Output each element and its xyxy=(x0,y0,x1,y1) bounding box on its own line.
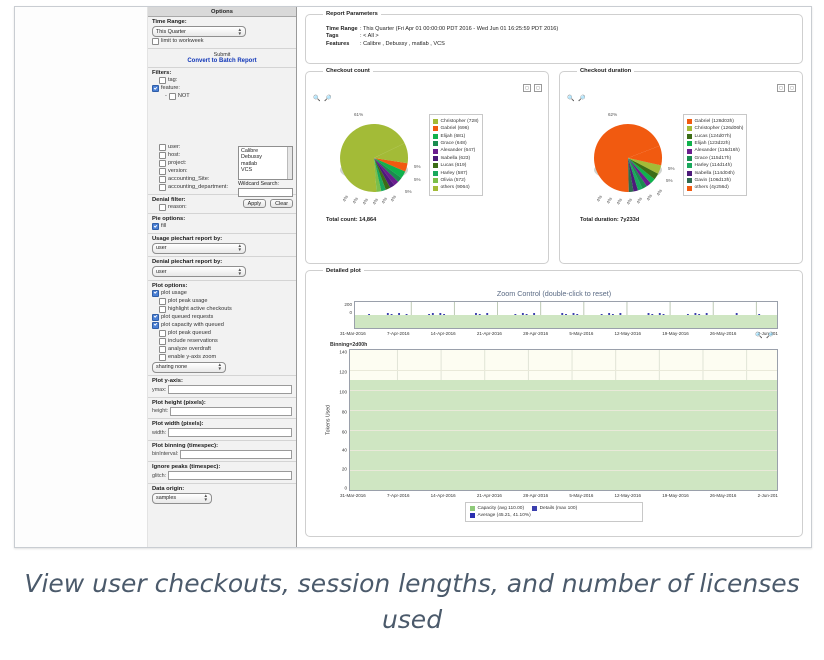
legend-label: Gabriel (128d03h) xyxy=(695,118,734,125)
zoom-out-icon[interactable]: ◻ xyxy=(788,84,796,92)
limit-workweek-label: limit to workweek xyxy=(161,38,204,45)
legend-item: Gabriel (128d03h) xyxy=(687,118,743,125)
param-row-tags: Tags: < All > xyxy=(326,33,784,41)
data-origin-label: Data origin: xyxy=(152,486,292,492)
plot-peak-queued-label: plot peak queued xyxy=(168,330,211,337)
plot-width-label: Plot width (pixels): xyxy=(152,421,292,427)
plot-height-label: Plot height (pixels): xyxy=(152,400,292,406)
total-duration-label: Total duration: 7y233d xyxy=(572,213,790,228)
param-value-tags: : < All > xyxy=(360,33,379,39)
chevron-updown-icon: ▲▼ xyxy=(203,494,208,502)
checkout-count-magnifiers: 🔍 🔎 xyxy=(313,96,332,102)
zc-ytick-0: 0 xyxy=(338,309,352,317)
report-content: Report Parameters Time Range: This Quart… xyxy=(297,7,811,547)
legend-label: Isabella (623) xyxy=(441,155,471,162)
pie-label-62: 62% xyxy=(608,112,617,117)
zoom-control-xticks: 31-Mar-2016 7-Apr-2016 14-Apr-2016 21-Ap… xyxy=(340,331,784,336)
pie-options-label: Pie options: xyxy=(152,216,292,222)
zoom-control-title: Zoom Control (double-click to reset) xyxy=(324,289,784,298)
denial-piechart-select[interactable]: user ▲▼ xyxy=(152,266,246,277)
legend-label: Gabriel (696) xyxy=(441,125,470,132)
feature-list-panel: Calibre Debussy matlab VCS Wildcard Sear… xyxy=(238,146,293,208)
detailed-plot-body: Zoom Control (double-click to reset) 200… xyxy=(318,279,790,526)
legend-swatch xyxy=(687,178,692,183)
ignore-peaks-label: Ignore peaks (timespec): xyxy=(152,464,292,470)
screenshot-root: Options Time Range: This Quarter ▲▼ limi… xyxy=(0,0,824,660)
plot-capacity-with-queued-checkbox[interactable] xyxy=(152,322,159,329)
apply-button[interactable]: Apply xyxy=(243,199,267,208)
sharing-value: sharing none xyxy=(156,364,187,370)
bininterval-name: binInterval: xyxy=(152,451,178,457)
legend-swatch xyxy=(687,134,692,139)
legend-swatch xyxy=(433,163,438,168)
gridline xyxy=(350,370,777,371)
convert-batch-report-link[interactable]: Convert to Batch Report xyxy=(152,58,292,64)
include-reservations-label: include reservations xyxy=(168,338,218,345)
zoom-in-icon[interactable]: ◻ xyxy=(777,84,785,92)
ymax-field-row[interactable]: ymax: xyxy=(152,385,292,394)
legend-item: Gavin (106d13h) xyxy=(687,177,743,184)
legend-label: Christopher (126d06h) xyxy=(695,125,744,132)
legend-item: Lucas (124d07h) xyxy=(687,133,743,140)
legend-swatch xyxy=(687,149,692,154)
time-range-section: Time Range: This Quarter ▲▼ limit to wor… xyxy=(148,17,296,49)
filter-project-label: project: xyxy=(168,160,186,167)
filter-version-label: version: xyxy=(168,168,188,175)
checkout-count-title: Checkout count xyxy=(323,68,373,74)
plot-queued-requests-label: plot queued requests xyxy=(161,314,213,321)
filter-version-checkbox[interactable] xyxy=(159,168,166,175)
pie-label-d5a: 5% xyxy=(668,166,675,171)
zc-xtick: 7-Apr-2016 xyxy=(387,331,410,336)
time-range-value: This Quarter xyxy=(156,29,186,35)
limit-workweek-row[interactable]: limit to workweek xyxy=(152,38,292,45)
filter-tag-row[interactable]: tag: xyxy=(159,77,292,84)
legend-item: Christopher (728) xyxy=(433,118,479,125)
legend-swatch xyxy=(433,186,438,191)
zoom-control-band xyxy=(355,315,777,328)
legend-label: Lucas (619) xyxy=(441,162,467,169)
zc-xtick: 19-May-2016 xyxy=(662,331,689,336)
zoom-out-icon[interactable]: ◻ xyxy=(534,84,542,92)
legend-swatch xyxy=(687,119,692,124)
plot-option-plot-peak-usage[interactable]: plot peak usage xyxy=(159,298,292,305)
total-count-label: Total count: 14,864 xyxy=(318,213,536,228)
filter-project-checkbox[interactable] xyxy=(159,160,166,167)
param-key-features: Features xyxy=(326,41,360,49)
zc-xtick: 12-May-2016 xyxy=(615,331,642,336)
plot-option-plot-usage[interactable]: plot usage xyxy=(152,290,292,297)
ytick-80: 80 xyxy=(342,410,347,415)
usage-piechart-value: user xyxy=(156,245,167,251)
legend-label: Isabella (114d04h) xyxy=(695,170,735,177)
plot-queued-requests-checkbox[interactable] xyxy=(152,314,159,321)
legend-swatch xyxy=(433,156,438,161)
magnifier-minus-icon[interactable]: 🔎 xyxy=(578,96,586,102)
main-plot-legend: Capacity (avg 110.00) Details (max 100) … xyxy=(465,502,643,522)
pie-label-5a: 5% xyxy=(414,164,421,169)
filter-feature-row[interactable]: feature: xyxy=(152,85,292,92)
glitch-name: glitch: xyxy=(152,473,166,479)
magnifier-plus-icon[interactable]: 🔍 xyxy=(313,96,321,102)
checkout-count-zoom-controls: ◻ ◻ xyxy=(523,84,542,92)
legend-item: Gabriel (696) xyxy=(433,125,479,132)
height-input[interactable] xyxy=(170,407,292,416)
binning-label: Binning=2d00h xyxy=(330,342,784,348)
plot-yaxis-section: Plot y-axis: ymax: xyxy=(148,376,296,398)
pie-label-5c: 5% xyxy=(405,189,412,194)
usage-piechart-label: Usage piechart report by: xyxy=(152,236,292,242)
time-range-label: Time Range: xyxy=(152,19,292,25)
height-name: height: xyxy=(152,408,168,414)
pie-label-d5b: 5% xyxy=(666,178,673,183)
legend-row: Average (45.21, 41.10%) xyxy=(470,512,638,519)
legend-swatch xyxy=(687,156,692,161)
plot-option-plot-peak-queued[interactable]: plot peak queued xyxy=(159,330,292,337)
legend-swatch xyxy=(687,186,692,191)
plot-option-include-reservations[interactable]: include reservations xyxy=(159,338,292,345)
legend-label: Christopher (728) xyxy=(441,118,479,125)
legend-item: Elijah (123d22h) xyxy=(687,140,743,147)
legend-item: Harley (587) xyxy=(433,170,479,177)
bininterval-input[interactable] xyxy=(180,450,292,459)
checkout-duration-panel: Checkout duration ◻ ◻ 🔍 🔎 xyxy=(559,68,803,264)
filter-not-checkbox[interactable] xyxy=(169,93,176,100)
analyze-overdraft-checkbox[interactable] xyxy=(159,346,166,353)
clear-button[interactable]: Clear xyxy=(270,199,293,208)
legend-item: others (4y256d) xyxy=(687,184,743,191)
data-origin-section: Data origin: samples ▲▼ xyxy=(148,484,296,507)
main-xtick: 26-May-2016 xyxy=(710,493,737,498)
legend-swatch xyxy=(433,149,438,154)
main-xtick: 2-Jun-201 xyxy=(758,493,778,498)
legend-item: Average (45.21, 41.10%) xyxy=(470,512,531,519)
denial-piechart-section: Denial piechart report by: user ▲▼ xyxy=(148,257,296,281)
main-xtick: 28-Apr-2016 xyxy=(523,493,548,498)
legend-label: Olivia (572) xyxy=(441,177,466,184)
legend-item: others (9064) xyxy=(433,184,479,191)
bininterval-field-row[interactable]: binInterval: xyxy=(152,450,292,459)
options-sidebar: Options Time Range: This Quarter ▲▼ limi… xyxy=(148,7,297,547)
usage-piechart-select[interactable]: user ▲▼ xyxy=(152,243,246,254)
zoom-control-wrap: 200 0 xyxy=(324,301,784,329)
legend-item: Capacity (avg 110.00) xyxy=(470,505,524,512)
glitch-input[interactable] xyxy=(168,471,292,480)
plot-options-label: Plot options: xyxy=(152,283,292,289)
legend-swatch xyxy=(433,134,438,139)
legend-label: Capacity (avg 110.00) xyxy=(478,505,525,512)
checkout-duration-legend: Gabriel (128d03h) Christopher (126d06h) … xyxy=(683,114,747,196)
pie-charts-row: Checkout count ◻ ◻ 🔍 🔎 xyxy=(303,68,805,268)
filter-accounting-department-checkbox[interactable] xyxy=(159,184,166,191)
filter-accounting-site-label: accounting_Site: xyxy=(168,176,209,183)
height-field-row[interactable]: height: xyxy=(152,407,292,416)
main-xtick: 21-Apr-2016 xyxy=(477,493,502,498)
gridline xyxy=(350,470,777,471)
submit-section: Submit Convert to Batch Report xyxy=(148,49,296,69)
glitch-field-row[interactable]: glitch: xyxy=(152,471,292,480)
legend-item: Details (max 100) xyxy=(532,505,577,512)
zoom-in-icon[interactable]: ◻ xyxy=(523,84,531,92)
pie-label-5b: 5% xyxy=(414,177,421,182)
filter-tag-checkbox[interactable] xyxy=(159,77,166,84)
ignore-peaks-section: Ignore peaks (timespec): glitch: xyxy=(148,462,296,484)
pie-fill-row[interactable]: fill xyxy=(152,223,292,230)
legend-swatch xyxy=(433,126,438,131)
legend-swatch xyxy=(433,141,438,146)
filter-user-label: user: xyxy=(168,144,180,151)
report-parameters-title: Report Parameters xyxy=(323,11,381,17)
legend-swatch xyxy=(470,513,475,518)
chevron-updown-icon: ▲▼ xyxy=(237,244,242,252)
app-window: Options Time Range: This Quarter ▲▼ limi… xyxy=(14,6,812,548)
plot-option-plot-capacity-with-queued[interactable]: plot capacity with queued xyxy=(152,322,292,329)
feature-listbox[interactable]: Calibre Debussy matlab VCS xyxy=(238,146,293,180)
zc-xtick: 21-Apr-2016 xyxy=(477,331,502,336)
limit-workweek-checkbox[interactable] xyxy=(152,38,159,45)
denial-piechart-label: Denial piechart report by: xyxy=(152,259,292,265)
param-key-time-range: Time Range xyxy=(326,26,360,34)
magnifier-plus-icon[interactable]: 🔍 xyxy=(567,96,575,102)
zc-xtick: 14-Apr-2016 xyxy=(431,331,456,336)
plot-peak-queued-checkbox[interactable] xyxy=(159,330,166,337)
denial-reason-label: reason: xyxy=(168,204,187,211)
gridline xyxy=(350,390,777,391)
legend-swatch xyxy=(687,141,692,146)
main-xtick: 14-Apr-2016 xyxy=(431,493,456,498)
plot-height-section: Plot height (pixels): height: xyxy=(148,398,296,420)
checkout-count-chart-area: 61% 5% 5% 5% 4% 4% 4% 4% 4% 4% xyxy=(318,80,536,213)
filter-user-checkbox[interactable] xyxy=(159,144,166,151)
param-row-features: Features: Calibre , Debussy , matlab , V… xyxy=(326,41,784,49)
enable-y-axis-zoom-label: enable y-axis zoom xyxy=(168,354,216,361)
legend-label: Elijah (123d22h) xyxy=(695,140,731,147)
plot-usage-label: plot usage xyxy=(161,290,187,297)
legend-swatch xyxy=(470,506,475,511)
legend-label: Lucas (124d07h) xyxy=(695,133,732,140)
usage-piechart-section: Usage piechart report by: user ▲▼ xyxy=(148,234,296,258)
gridline xyxy=(350,430,777,431)
filter-not-dash: - xyxy=(165,93,167,100)
zoom-control-plot[interactable] xyxy=(354,301,778,329)
legend-item: Isabella (114d04h) xyxy=(687,170,743,177)
checkout-count-pie: 61% 5% 5% 5% 4% 4% 4% 4% 4% 4% xyxy=(322,108,427,213)
legend-item: Lucas (619) xyxy=(433,162,479,169)
plot-option-enable-y-axis-zoom[interactable]: enable y-axis zoom xyxy=(159,354,292,361)
wildcard-search-label: Wildcard Search: xyxy=(238,181,293,187)
chevron-updown-icon: ▲▼ xyxy=(237,28,242,36)
data-origin-value: samples xyxy=(156,495,176,501)
legend-label: Harley (587) xyxy=(441,170,468,177)
legend-item: Olivia (572) xyxy=(433,177,479,184)
legend-swatch xyxy=(532,506,537,511)
main-plot-wrap: Tokens Used 140 120 100 80 60 40 20 0 xyxy=(324,349,784,491)
detailed-plot-title: Detailed plot xyxy=(323,268,364,274)
detailed-plot-panel: Detailed plot Zoom Control (double-click… xyxy=(305,268,803,538)
legend-label: Details (max 100) xyxy=(540,505,578,512)
ytick-60: 60 xyxy=(342,430,347,435)
param-value-time-range: : This Quarter (Fri Apr 01 00:00:00 PDT … xyxy=(360,26,558,32)
ytick-0: 0 xyxy=(344,486,347,491)
legend-swatch xyxy=(687,171,692,176)
legend-label: Grace (115d17h) xyxy=(695,155,732,162)
plot-options-section: Plot options: plot usage plot peak usage… xyxy=(148,281,296,377)
legend-label: Alexander (116d16h) xyxy=(695,147,740,154)
magnifier-minus-icon[interactable]: 🔎 xyxy=(324,96,332,102)
legend-row: Capacity (avg 110.00) Details (max 100) xyxy=(470,505,638,512)
zc-ytick-200: 200 xyxy=(338,301,352,309)
listbox-scrollbar[interactable] xyxy=(287,147,292,179)
legend-label: Average (45.21, 41.10%) xyxy=(478,512,531,519)
zc-xtick: 26-May-2016 xyxy=(710,331,737,336)
ytick-140: 140 xyxy=(339,350,347,355)
capacity-band xyxy=(350,380,777,490)
report-parameters-panel: Report Parameters Time Range: This Quart… xyxy=(305,11,803,64)
legend-item: Harley (114d14h) xyxy=(687,162,743,169)
legend-label: Alexander (647) xyxy=(441,147,476,154)
filter-feature-checkbox[interactable] xyxy=(152,85,159,92)
ytick-100: 100 xyxy=(339,390,347,395)
legend-label: Harley (114d14h) xyxy=(695,162,732,169)
legend-item: Elijah (681) xyxy=(433,133,479,140)
checkout-duration-zoom-controls: ◻ ◻ xyxy=(777,84,796,92)
highlight-active-checkouts-label: highlight active checkouts xyxy=(168,306,232,313)
filter-not-label: NOT xyxy=(178,93,190,100)
legend-label: others (4y256d) xyxy=(695,184,729,191)
checkout-count-legend: Christopher (728) Gabriel (696) Elijah (… xyxy=(429,114,483,196)
gridline xyxy=(350,450,777,451)
report-parameters-body: Time Range: This Quarter (Fri Apr 01 00:… xyxy=(318,23,790,54)
legend-label: Gavin (106d13h) xyxy=(695,177,731,184)
main-plot-magnifiers: 🔍 🔎 xyxy=(755,333,774,339)
legend-label: others (9064) xyxy=(441,184,470,191)
filters-label: Filters: xyxy=(152,70,292,76)
main-plot-ylabel: Tokens Used xyxy=(324,349,333,491)
pie-fill-checkbox[interactable] xyxy=(152,223,159,230)
checkout-duration-pie: 62% 5% 5% 4% 4% 4% 4% 4% 4% 4% xyxy=(576,108,681,213)
pie-fill-label: fill xyxy=(161,223,166,230)
param-value-features: : Calibre , Debussy , matlab , VCS xyxy=(360,41,445,47)
time-range-select[interactable]: This Quarter ▲▼ xyxy=(152,26,246,37)
main-xtick: 31-Mar-2016 xyxy=(340,493,366,498)
plot-binning-section: Plot binning (timespec): binInterval: xyxy=(148,441,296,463)
filter-not-row[interactable]: - NOT xyxy=(165,93,292,100)
enable-y-axis-zoom-checkbox[interactable] xyxy=(159,354,166,361)
legend-label: Elijah (681) xyxy=(441,133,466,140)
zc-xtick: 5-May-2016 xyxy=(569,331,593,336)
main-xtick: 5-May-2016 xyxy=(569,493,593,498)
width-input[interactable] xyxy=(168,428,292,437)
main-xtick: 12-May-2016 xyxy=(615,493,642,498)
param-row-time-range: Time Range: This Quarter (Fri Apr 01 00:… xyxy=(326,26,784,34)
pie-options-section: Pie options: fill xyxy=(148,214,296,234)
ytick-20: 20 xyxy=(342,467,347,472)
wildcard-search-input[interactable] xyxy=(238,188,293,197)
legend-swatch xyxy=(433,171,438,176)
legend-swatch xyxy=(687,163,692,168)
include-reservations-checkbox[interactable] xyxy=(159,338,166,345)
legend-item: Isabella (623) xyxy=(433,155,479,162)
ytick-40: 40 xyxy=(342,448,347,453)
zc-xtick: 28-Apr-2016 xyxy=(523,331,548,336)
chevron-updown-icon: ▲▼ xyxy=(237,268,242,276)
data-origin-select[interactable]: samples ▲▼ xyxy=(152,493,212,504)
analyze-overdraft-label: analyze overdraft xyxy=(168,346,211,353)
ymax-input[interactable] xyxy=(168,385,292,394)
plot-width-section: Plot width (pixels): width: xyxy=(148,419,296,441)
checkout-duration-title: Checkout duration xyxy=(577,68,634,74)
denial-reason-checkbox[interactable] xyxy=(159,204,166,211)
plot-option-plot-queued-requests[interactable]: plot queued requests xyxy=(152,314,292,321)
filter-feature-label: feature: xyxy=(161,85,180,92)
legend-swatch xyxy=(687,126,692,131)
plot-usage-checkbox[interactable] xyxy=(152,290,159,297)
magnifier-plus-icon[interactable]: 🔍 xyxy=(755,333,763,339)
legend-item: Alexander (647) xyxy=(433,147,479,154)
zc-xtick: 31-Mar-2016 xyxy=(340,331,366,336)
main-xtick: 19-May-2016 xyxy=(662,493,689,498)
plot-option-analyze-overdraft[interactable]: analyze overdraft xyxy=(159,346,292,353)
plot-binning-label: Plot binning (timespec): xyxy=(152,443,292,449)
highlight-active-checkouts-checkbox[interactable] xyxy=(159,306,166,313)
width-name: width: xyxy=(152,430,166,436)
options-panel-title: Options xyxy=(148,7,296,17)
plot-option-highlight-active[interactable]: highlight active checkouts xyxy=(159,306,292,313)
checkout-count-panel: Checkout count ◻ ◻ 🔍 🔎 xyxy=(305,68,549,264)
chevron-updown-icon: ▲▼ xyxy=(217,363,222,371)
legend-item: Grace (115d17h) xyxy=(687,155,743,162)
feature-option-3[interactable]: VCS xyxy=(241,167,290,173)
legend-item: Christopher (126d06h) xyxy=(687,125,743,132)
left-gutter xyxy=(15,7,148,547)
filter-accounting-department-label: accounting_department: xyxy=(168,184,228,191)
checkout-duration-chart-area: 62% 5% 5% 4% 4% 4% 4% 4% 4% 4% xyxy=(572,80,790,213)
plot-peak-usage-label: plot peak usage xyxy=(168,298,208,305)
main-xtick: 7-Apr-2016 xyxy=(387,493,410,498)
width-field-row[interactable]: width: xyxy=(152,428,292,437)
legend-label: Grace (648) xyxy=(441,140,467,147)
checkout-duration-magnifiers: 🔍 🔎 xyxy=(567,96,586,102)
filter-accounting-site-checkbox[interactable] xyxy=(159,176,166,183)
denial-piechart-value: user xyxy=(156,269,167,275)
filters-section: Filters: tag: feature: - NOT xyxy=(148,68,296,195)
sharing-select[interactable]: sharing none ▲▼ xyxy=(152,362,226,373)
filter-host-label: host: xyxy=(168,152,180,159)
plot-capacity-with-queued-label: plot capacity with queued xyxy=(161,322,224,329)
gridline xyxy=(350,410,777,411)
param-key-tags: Tags xyxy=(326,33,360,41)
magnifier-minus-icon[interactable]: 🔎 xyxy=(766,333,774,339)
ytick-120: 120 xyxy=(339,370,347,375)
ymax-name: ymax: xyxy=(152,387,166,393)
legend-item: Alexander (116d16h) xyxy=(687,147,743,154)
plot-yaxis-label: Plot y-axis: xyxy=(152,378,292,384)
main-plot[interactable] xyxy=(349,349,778,491)
figure-caption: View user checkouts, session lengths, an… xyxy=(0,566,824,638)
main-plot-yticks: 140 120 100 80 60 40 20 0 xyxy=(333,349,349,491)
filter-host-checkbox[interactable] xyxy=(159,152,166,159)
legend-swatch xyxy=(433,119,438,124)
plot-peak-usage-checkbox[interactable] xyxy=(159,298,166,305)
filter-tag-label: tag: xyxy=(168,77,177,84)
main-plot-xticks: 31-Mar-2016 7-Apr-2016 14-Apr-2016 21-Ap… xyxy=(340,493,784,498)
legend-swatch xyxy=(433,178,438,183)
zoom-control-yticks: 200 0 xyxy=(338,301,352,317)
filter-buttons: Apply Clear xyxy=(238,199,293,208)
pie-label-61: 61% xyxy=(354,112,363,117)
legend-item: Grace (648) xyxy=(433,140,479,147)
